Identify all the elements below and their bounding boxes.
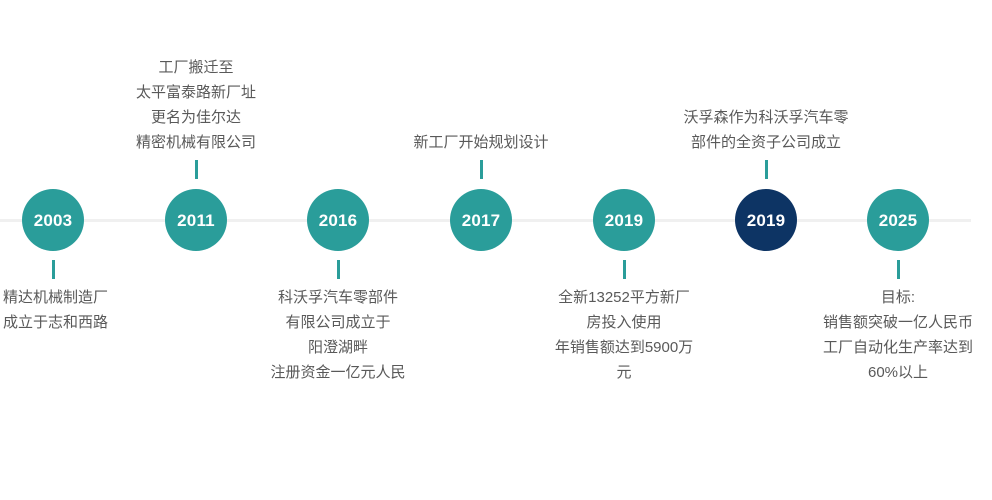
caption-line: 更名为佳尔达 bbox=[46, 105, 346, 130]
caption-line: 部件的全资子公司成立 bbox=[616, 130, 916, 155]
timeline-node-circle-2003[interactable]: 2003 bbox=[22, 189, 84, 251]
timeline-tick-down bbox=[623, 260, 626, 279]
caption-line: 太平富泰路新厂址 bbox=[46, 80, 346, 105]
timeline-caption-2016: 科沃孚汽车零部件 有限公司成立于 阳澄湖畔 注册资金一亿元人民 bbox=[188, 285, 488, 385]
caption-line: 工厂搬迁至 bbox=[46, 55, 346, 80]
timeline-node-circle-2016[interactable]: 2016 bbox=[307, 189, 369, 251]
caption-line: 销售额突破一亿人民币 bbox=[748, 310, 992, 335]
timeline-tick-down bbox=[897, 260, 900, 279]
timeline-node-circle-2019-teal[interactable]: 2019 bbox=[593, 189, 655, 251]
timeline-tick-up bbox=[765, 160, 768, 179]
timeline-tick-down bbox=[52, 260, 55, 279]
timeline-year-label: 2003 bbox=[34, 212, 73, 229]
timeline-year-label: 2025 bbox=[879, 212, 918, 229]
timeline-year-label: 2019 bbox=[747, 212, 786, 229]
caption-line: 新工厂开始规划设计 bbox=[331, 130, 631, 155]
timeline-tick-up bbox=[195, 160, 198, 179]
timeline-caption-2017: 新工厂开始规划设计 bbox=[331, 130, 631, 155]
timeline-caption-2011: 工厂搬迁至 太平富泰路新厂址 更名为佳尔达 精密机械有限公司 bbox=[46, 55, 346, 155]
caption-line: 全新13252平方新厂 bbox=[474, 285, 774, 310]
caption-line: 工厂自动化生产率达到 bbox=[748, 335, 992, 360]
caption-line: 精密机械有限公司 bbox=[46, 130, 346, 155]
timeline-tick-up bbox=[480, 160, 483, 179]
caption-line: 科沃孚汽车零部件 bbox=[188, 285, 488, 310]
timeline-year-label: 2019 bbox=[605, 212, 644, 229]
timeline-node-circle-2025[interactable]: 2025 bbox=[867, 189, 929, 251]
timeline-node-circle-2011[interactable]: 2011 bbox=[165, 189, 227, 251]
timeline-caption-2025: 目标: 销售额突破一亿人民币 工厂自动化生产率达到 60%以上 bbox=[748, 285, 992, 385]
caption-line: 注册资金一亿元人民 bbox=[188, 360, 488, 385]
timeline-caption-2019-teal: 全新13252平方新厂 房投入使用 年销售额达到5900万 元 bbox=[474, 285, 774, 385]
timeline-year-label: 2017 bbox=[462, 212, 501, 229]
caption-line: 有限公司成立于 bbox=[188, 310, 488, 335]
timeline-node-circle-2017[interactable]: 2017 bbox=[450, 189, 512, 251]
caption-line: 沃孚森作为科沃孚汽车零 bbox=[616, 105, 916, 130]
timeline-year-label: 2011 bbox=[177, 212, 215, 229]
caption-line: 房投入使用 bbox=[474, 310, 774, 335]
caption-line: 60%以上 bbox=[748, 360, 992, 385]
timeline-year-label: 2016 bbox=[319, 212, 358, 229]
caption-line: 元 bbox=[474, 360, 774, 385]
timeline-infographic: 2003 精达机械制造厂 成立于志和西路 2011 工厂搬迁至 太平富泰路新厂址… bbox=[0, 0, 992, 500]
caption-line: 年销售额达到5900万 bbox=[474, 335, 774, 360]
caption-line: 阳澄湖畔 bbox=[188, 335, 488, 360]
caption-line: 目标: bbox=[748, 285, 992, 310]
timeline-node-circle-2019-navy[interactable]: 2019 bbox=[735, 189, 797, 251]
timeline-caption-2019-navy: 沃孚森作为科沃孚汽车零 部件的全资子公司成立 bbox=[616, 105, 916, 155]
timeline-tick-down bbox=[337, 260, 340, 279]
